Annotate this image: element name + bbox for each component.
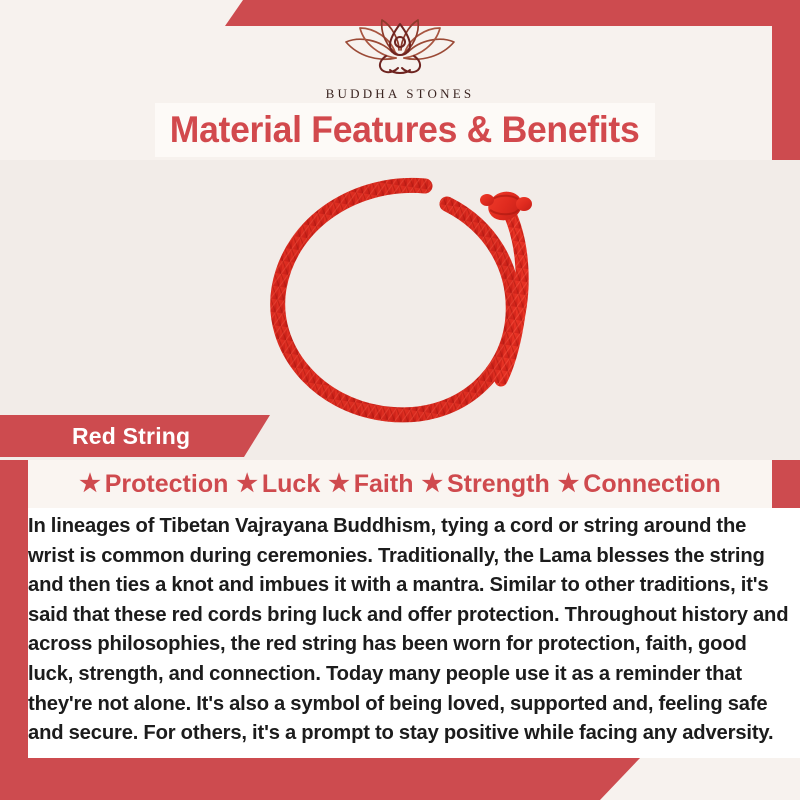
benefit-label: Luck bbox=[262, 470, 320, 499]
brand-logo: BUDDHA STONES bbox=[0, 12, 800, 102]
description-paragraph: In lineages of Tibetan Vajrayana Buddhis… bbox=[28, 512, 800, 749]
lotus-meditation-figure-icon bbox=[334, 12, 466, 82]
title-banner: Material Features & Benefits bbox=[155, 103, 655, 157]
benefit-item-protection: ★ Protection bbox=[75, 470, 232, 499]
benefit-label: Faith bbox=[354, 470, 414, 499]
benefit-label: Connection bbox=[583, 470, 721, 499]
section-title: Red String bbox=[72, 423, 190, 450]
section-ribbon-red-string: Red String bbox=[0, 415, 270, 457]
star-icon: ★ bbox=[328, 472, 350, 496]
benefit-label: Strength bbox=[447, 470, 550, 499]
sliding-knot bbox=[480, 187, 532, 224]
benefit-label: Protection bbox=[105, 470, 229, 499]
infographic-card: BUDDHA STONES Material Features & Benefi… bbox=[0, 0, 800, 800]
description-block: In lineages of Tibetan Vajrayana Buddhis… bbox=[28, 508, 800, 758]
page-title: Material Features & Benefits bbox=[170, 109, 640, 151]
benefits-list: ★ Protection ★ Luck ★ Faith ★ Strength ★… bbox=[28, 460, 772, 508]
frame-band-bottom bbox=[0, 758, 640, 800]
benefit-item-connection: ★ Connection bbox=[554, 470, 725, 499]
benefit-item-strength: ★ Strength bbox=[417, 470, 553, 499]
red-string-bracelet-image bbox=[247, 164, 557, 434]
star-icon: ★ bbox=[421, 472, 443, 496]
brand-wordmark: BUDDHA STONES bbox=[0, 86, 800, 102]
star-icon: ★ bbox=[558, 472, 580, 496]
star-icon: ★ bbox=[79, 472, 101, 496]
star-icon: ★ bbox=[236, 472, 258, 496]
benefit-item-faith: ★ Faith bbox=[324, 470, 417, 499]
benefit-item-luck: ★ Luck bbox=[232, 470, 324, 499]
